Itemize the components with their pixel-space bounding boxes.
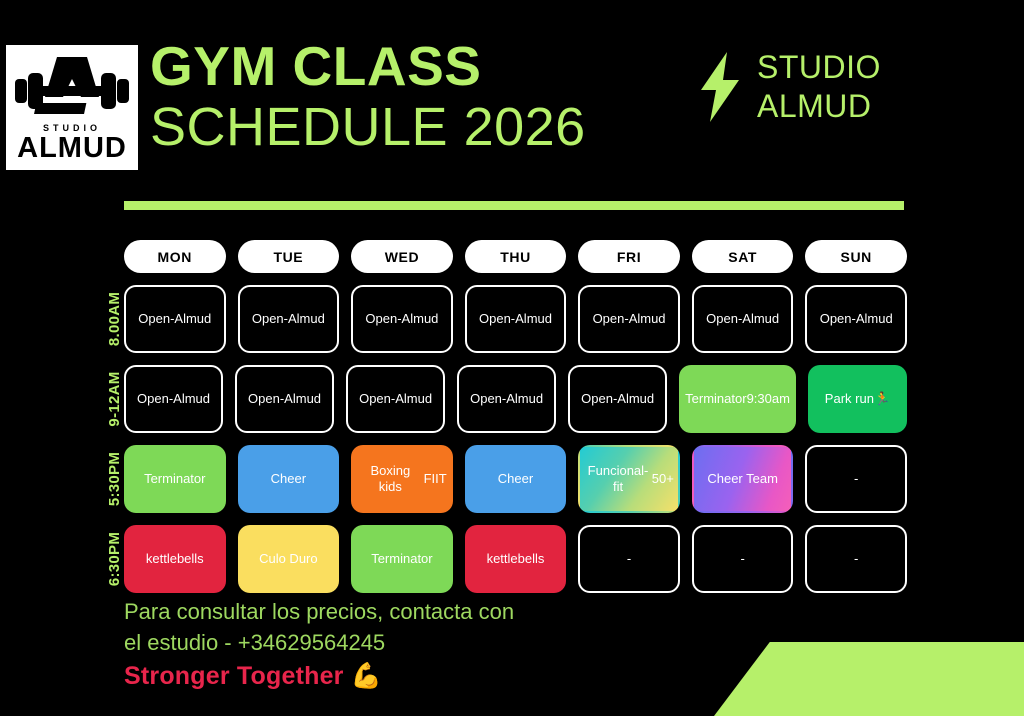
schedule-cells-row: Open-AlmudOpen-AlmudOpen-AlmudOpen-Almud…: [124, 285, 907, 353]
class-cell-label: kettlebells: [487, 551, 545, 567]
day-header-mon[interactable]: MON: [124, 240, 226, 273]
class-cell[interactable]: Cheer Team: [692, 445, 794, 513]
footer-line-1: Para consultar los precios, contacta con: [124, 596, 744, 627]
schedule-cells-row: kettlebellsCulo DuroTerminatorkettlebell…: [124, 525, 907, 593]
day-header-sun[interactable]: SUN: [805, 240, 907, 273]
logo-name-text: ALMUD: [17, 134, 127, 163]
day-header-row: MONTUEWEDTHUFRISATSUN: [124, 240, 907, 273]
class-cell-label: Boxing kids: [357, 463, 423, 496]
class-cell-label: FIIT: [424, 471, 447, 487]
class-cell-label: Open-Almud: [138, 311, 211, 327]
class-cell[interactable]: Culo Duro: [238, 525, 340, 593]
day-header-wed[interactable]: WED: [351, 240, 453, 273]
footer-contact: Para consultar los precios, contacta con…: [124, 596, 744, 691]
day-header-sat[interactable]: SAT: [692, 240, 794, 273]
title-line-1: GYM CLASS: [150, 38, 586, 96]
class-cell-label: Funcional-fit: [584, 463, 652, 496]
class-cell[interactable]: Open-Almud: [238, 285, 340, 353]
header-divider: [124, 201, 904, 210]
class-cell-label: Open-Almud: [359, 391, 432, 407]
class-cell-label: 🏃: [874, 391, 890, 407]
class-cell[interactable]: Open-Almud: [346, 365, 445, 433]
class-cell[interactable]: -: [578, 525, 680, 593]
class-cell-label: 9:30am: [747, 391, 790, 407]
class-cell[interactable]: Open-Almud: [351, 285, 453, 353]
studio-logo: STUDIO ALMUD: [6, 45, 138, 170]
class-cell-label: Open-Almud: [581, 391, 654, 407]
class-cell-label: Terminator: [685, 391, 746, 407]
class-cell[interactable]: Open-Almud: [568, 365, 667, 433]
footer-slogan: Stronger Together 💪: [124, 662, 744, 691]
poster-title: GYM CLASS SCHEDULE 2026: [150, 38, 586, 157]
class-cell-label: Open-Almud: [479, 311, 552, 327]
class-cell[interactable]: -: [805, 525, 907, 593]
class-cell-label: Open-Almud: [252, 311, 325, 327]
day-header-thu[interactable]: THU: [465, 240, 567, 273]
class-cell-label: Culo Duro: [259, 551, 318, 567]
class-cell-label: -: [854, 551, 858, 567]
class-cell-label: Terminator: [144, 471, 205, 487]
class-cell[interactable]: Funcional-fit50+: [578, 445, 680, 513]
class-cell[interactable]: Cheer: [238, 445, 340, 513]
schedule-cells-row: TerminatorCheerBoxing kidsFIITCheerFunci…: [124, 445, 907, 513]
class-cell[interactable]: Open-Almud: [578, 285, 680, 353]
corner-accent-shape: [714, 642, 1024, 716]
schedule-grid: MONTUEWEDTHUFRISATSUN 8.00AMOpen-AlmudOp…: [124, 240, 907, 605]
brand-text: STUDIO ALMUD: [757, 48, 881, 126]
brand-line-1: STUDIO: [757, 48, 881, 87]
class-cell[interactable]: Terminator: [351, 525, 453, 593]
class-cell-label: Terminator: [371, 551, 432, 567]
brand-line-2: ALMUD: [757, 87, 881, 126]
class-cell-label: Cheer: [271, 471, 306, 487]
time-label-3: 6:30PM: [80, 525, 148, 593]
class-cell-label: -: [627, 551, 631, 567]
class-cell[interactable]: Boxing kidsFIIT: [351, 445, 453, 513]
title-line-2: SCHEDULE 2026: [150, 98, 586, 157]
class-cell-label: 50+: [652, 471, 674, 487]
day-header-fri[interactable]: FRI: [578, 240, 680, 273]
class-cell-label: Open-Almud: [820, 311, 893, 327]
schedule-row-group: 6:30PMkettlebellsCulo DuroTerminatorkett…: [124, 525, 907, 593]
class-cell[interactable]: Cheer: [465, 445, 567, 513]
class-cell[interactable]: Open-Almud: [465, 285, 567, 353]
class-cell-label: Park run: [825, 391, 874, 407]
brand-block: STUDIO ALMUD: [697, 48, 881, 126]
logo-studio-text: STUDIO: [43, 123, 101, 133]
barbell-logo-icon: [13, 53, 131, 125]
class-cell[interactable]: Open-Almud: [457, 365, 556, 433]
footer-line-2: el estudio - +34629564245: [124, 627, 744, 658]
class-cell-label: -: [740, 551, 744, 567]
time-label-1: 9-12AM: [80, 365, 148, 433]
class-cell[interactable]: Open-Almud: [692, 285, 794, 353]
class-cell-label: Cheer: [498, 471, 533, 487]
class-cell-label: Open-Almud: [365, 311, 438, 327]
poster-header: STUDIO ALMUD GYM CLASS SCHEDULE 2026 STU…: [0, 0, 1024, 190]
time-label-0: 8.00AM: [80, 285, 148, 353]
class-cell[interactable]: kettlebells: [465, 525, 567, 593]
class-cell[interactable]: Park run🏃: [808, 365, 907, 433]
class-cell[interactable]: -: [805, 445, 907, 513]
class-cell[interactable]: -: [692, 525, 794, 593]
class-cell-label: Open-Almud: [248, 391, 321, 407]
class-cell-label: -: [854, 471, 858, 487]
schedule-row-group: 5:30PMTerminatorCheerBoxing kidsFIITChee…: [124, 445, 907, 513]
class-cell[interactable]: Open-Almud: [235, 365, 334, 433]
schedule-row-group: 8.00AMOpen-AlmudOpen-AlmudOpen-AlmudOpen…: [124, 285, 907, 353]
class-cell-label: Open-Almud: [470, 391, 543, 407]
class-cell-label: Open-Almud: [706, 311, 779, 327]
schedule-rows: 8.00AMOpen-AlmudOpen-AlmudOpen-AlmudOpen…: [124, 285, 907, 593]
schedule-cells-row: Open-AlmudOpen-AlmudOpen-AlmudOpen-Almud…: [124, 365, 907, 433]
time-label-2: 5:30PM: [80, 445, 148, 513]
class-cell[interactable]: Terminator9:30am: [679, 365, 796, 433]
class-cell-label: Open-Almud: [593, 311, 666, 327]
class-cell[interactable]: Open-Almud: [805, 285, 907, 353]
class-cell-label: kettlebells: [146, 551, 204, 567]
lightning-bolt-icon: [697, 52, 743, 122]
day-header-tue[interactable]: TUE: [238, 240, 340, 273]
class-cell-label: Cheer Team: [707, 471, 778, 487]
schedule-row-group: 9-12AMOpen-AlmudOpen-AlmudOpen-AlmudOpen…: [124, 365, 907, 433]
